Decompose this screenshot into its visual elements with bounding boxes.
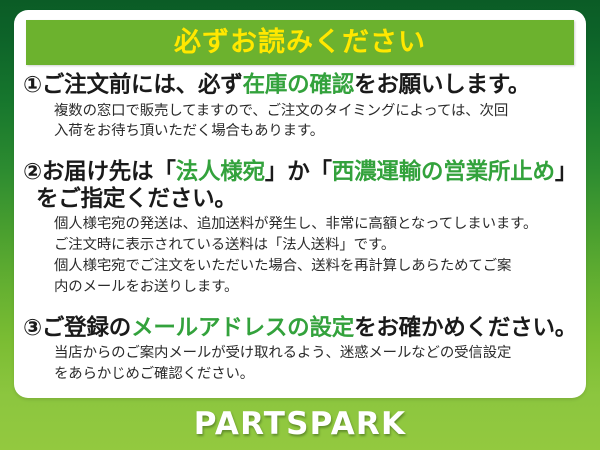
notice-item-3-heading-post: をお確かめください。 (354, 315, 577, 341)
notice-list: ①ご注文前には、必ず在庫の確認をお願いします。 複数の窓口で販売してますので、ご… (14, 72, 586, 387)
notice-item-2-number: ② (23, 159, 42, 185)
notice-item-3-body-line-1: 当店からのご案内メールが受け取れるよう、迷惑メールなどの受信設定 (54, 343, 586, 364)
notice-item-2-quote-open-2: 「 (310, 159, 332, 185)
notice-item-1-body-line-2: 入荷をお待ち頂いただく場合もあります。 (54, 121, 586, 142)
notice-item-1-heading-pre: ご注文前には、必ず (42, 72, 243, 98)
notice-item-1-heading-post: をお願いします。 (354, 72, 530, 98)
notice-item-2-body-line-4: 内のメールをお送りします。 (54, 277, 586, 298)
notice-item-2-body-line-3: 個人様宅宛でご注文をいただいた場合、送料を再計算しあらためてご案 (54, 256, 586, 277)
notice-item-3: ③ご登録のメールアドレスの設定をお確かめください。 当店からのご案内メールが受け… (14, 315, 586, 385)
notice-item-3-heading-pre: ご登録の (42, 315, 131, 341)
notice-banner: 必ずお読みください ①ご注文前には、必ず在庫の確認をお願いします。 複数の窓口で… (0, 0, 600, 450)
notice-item-2: ②お届け先は「法人様宛」か「西濃運輸の営業所止め」 をご指定ください。 個人様宅… (14, 159, 586, 298)
notice-item-2-heading-line2: をご指定ください。 (14, 186, 586, 213)
notice-item-1-body: 複数の窓口で販売してますので、ご注文のタイミングによっては、次回 入荷をお待ち頂… (14, 99, 586, 143)
notice-item-2-body: 個人様宅宛の発送は、追加送料が発生し、非常に高額となってしまいます。 ご注文時に… (14, 212, 586, 298)
notice-item-1: ①ご注文前には、必ず在庫の確認をお願いします。 複数の窓口で販売してますので、ご… (14, 72, 586, 142)
notice-item-2-heading-highlight-1: 法人様宛 (176, 159, 265, 185)
notice-item-2-quote-close-1: 」 (265, 159, 287, 185)
notice-item-2-heading-mid: か (287, 159, 309, 185)
notice-item-1-heading: ①ご注文前には、必ず在庫の確認をお願いします。 (14, 72, 586, 99)
notice-item-3-heading-highlight: メールアドレスの設定 (131, 315, 354, 341)
notice-item-1-heading-highlight: 在庫の確認 (243, 72, 355, 98)
brand-logo-partspark: PARTSPARK (194, 406, 406, 442)
notice-item-2-quote-open-1: 「 (153, 159, 175, 185)
notice-item-2-heading-highlight-2: 西濃運輸の営業所止め (332, 159, 555, 185)
notice-card: 必ずお読みください ①ご注文前には、必ず在庫の確認をお願いします。 複数の窓口で… (14, 10, 586, 398)
notice-item-2-body-line-1: 個人様宅宛の発送は、追加送料が発生し、非常に高額となってしまいます。 (54, 214, 586, 235)
notice-item-2-heading: ②お届け先は「法人様宛」か「西濃運輸の営業所止め」 (14, 159, 586, 186)
notice-item-1-number: ① (23, 72, 42, 98)
header-title: 必ずお読みください (174, 29, 426, 56)
notice-item-3-number: ③ (23, 315, 42, 341)
notice-item-2-body-line-2: ご注文時に表示されている送料は「法人送料」です。 (54, 235, 586, 256)
notice-item-3-body-line-2: をあらかじめご確認ください。 (54, 364, 586, 385)
notice-item-1-body-line-1: 複数の窓口で販売してますので、ご注文のタイミングによっては、次回 (54, 101, 586, 122)
notice-item-2-heading-pre: お届け先は (42, 159, 154, 185)
notice-item-3-body: 当店からのご案内メールが受け取れるよう、迷惑メールなどの受信設定 をあらかじめご… (14, 341, 586, 385)
notice-item-3-heading: ③ご登録のメールアドレスの設定をお確かめください。 (14, 315, 586, 342)
footer-logo-area: PARTSPARK (0, 398, 600, 450)
notice-item-2-quote-close-2: 」 (555, 159, 577, 185)
header-bar: 必ずお読みください (26, 20, 574, 65)
